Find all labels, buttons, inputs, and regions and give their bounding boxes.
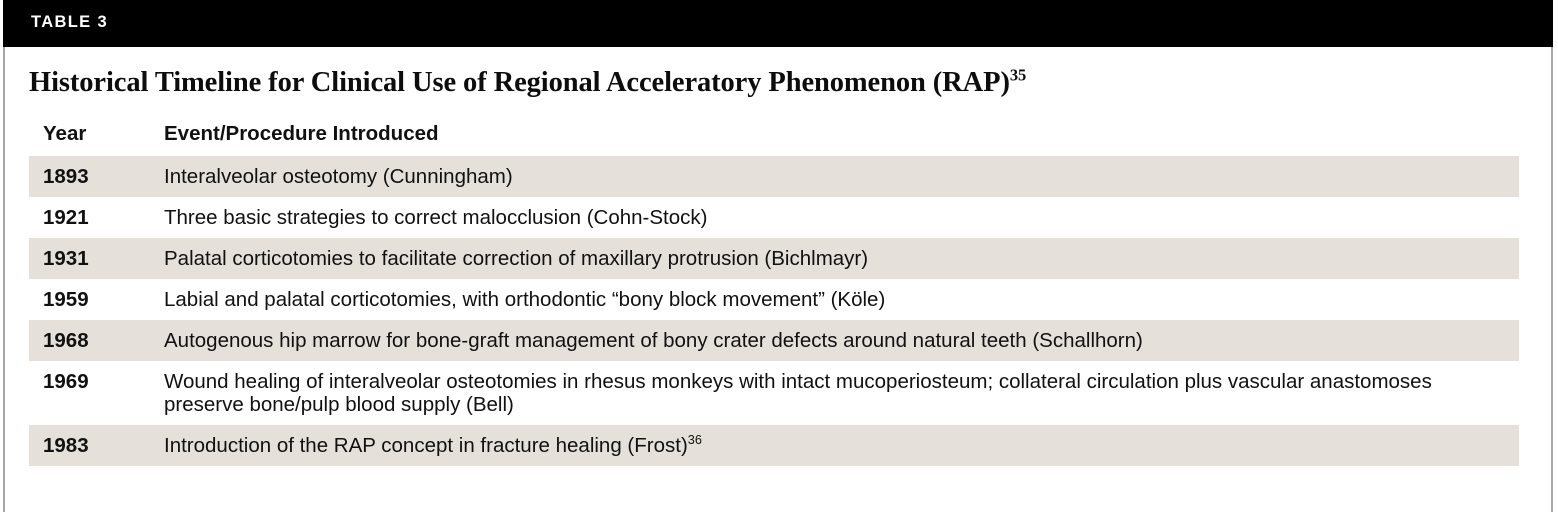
cell-year: 1969: [29, 361, 141, 402]
cell-year: 1983: [29, 425, 141, 466]
table-banner: TABLE 3: [3, 0, 1553, 47]
cell-event: Wound healing of interalveolar osteotomi…: [141, 361, 1519, 425]
cell-event: Three basic strategies to correct malocc…: [141, 197, 1519, 238]
column-header-event: Event/Procedure Introduced: [141, 116, 1519, 156]
table-row: 1959 Labial and palatal corticotomies, w…: [29, 279, 1519, 320]
cell-event: Introduction of the RAP concept in fract…: [141, 425, 1519, 466]
table-title: Historical Timeline for Clinical Use of …: [29, 68, 1026, 99]
cell-year: 1959: [29, 279, 141, 320]
table-header-row: Year Event/Procedure Introduced: [29, 116, 1519, 156]
cell-event: Autogenous hip marrow for bone-graft man…: [141, 320, 1519, 361]
table-row: 1983 Introduction of the RAP concept in …: [29, 425, 1519, 466]
cell-event: Labial and palatal corticotomies, with o…: [141, 279, 1519, 320]
table-title-superscript: 35: [1010, 66, 1026, 85]
cell-event-text: Interalveolar osteotomy (Cunningham): [164, 165, 513, 188]
table-row: 1931 Palatal corticotomies to facilitate…: [29, 238, 1519, 279]
table-row: 1921 Three basic strategies to correct m…: [29, 197, 1519, 238]
cell-event: Interalveolar osteotomy (Cunningham): [141, 156, 1519, 197]
cell-year: 1931: [29, 238, 141, 279]
cell-year: 1921: [29, 197, 141, 238]
cell-event: Palatal corticotomies to facilitate corr…: [141, 238, 1519, 279]
table-row: 1968 Autogenous hip marrow for bone-graf…: [29, 320, 1519, 361]
table-title-text: Historical Timeline for Clinical Use of …: [29, 67, 1010, 98]
figure-right-rule: [1551, 47, 1553, 512]
table-row: 1969 Wound healing of interalveolar oste…: [29, 361, 1519, 425]
cell-event-text: Autogenous hip marrow for bone-graft man…: [164, 329, 1143, 352]
cell-event-text: Labial and palatal corticotomies, with o…: [164, 288, 885, 311]
cell-event-text: Wound healing of interalveolar osteotomi…: [164, 370, 1432, 416]
table-figure: TABLE 3 Historical Timeline for Clinical…: [0, 0, 1558, 512]
cell-event-text: Three basic strategies to correct malocc…: [164, 206, 707, 229]
cell-year: 1893: [29, 156, 141, 197]
table-row: 1893 Interalveolar osteotomy (Cunningham…: [29, 156, 1519, 197]
timeline-table: Year Event/Procedure Introduced 1893 Int…: [29, 116, 1519, 466]
cell-year: 1968: [29, 320, 141, 361]
table-number-label: TABLE 3: [31, 14, 108, 31]
cell-event-superscript: 36: [688, 432, 702, 447]
figure-left-rule: [3, 47, 5, 512]
cell-event-text: Palatal corticotomies to facilitate corr…: [164, 247, 868, 270]
column-header-year: Year: [29, 116, 141, 156]
cell-event-text: Introduction of the RAP concept in fract…: [164, 434, 688, 457]
